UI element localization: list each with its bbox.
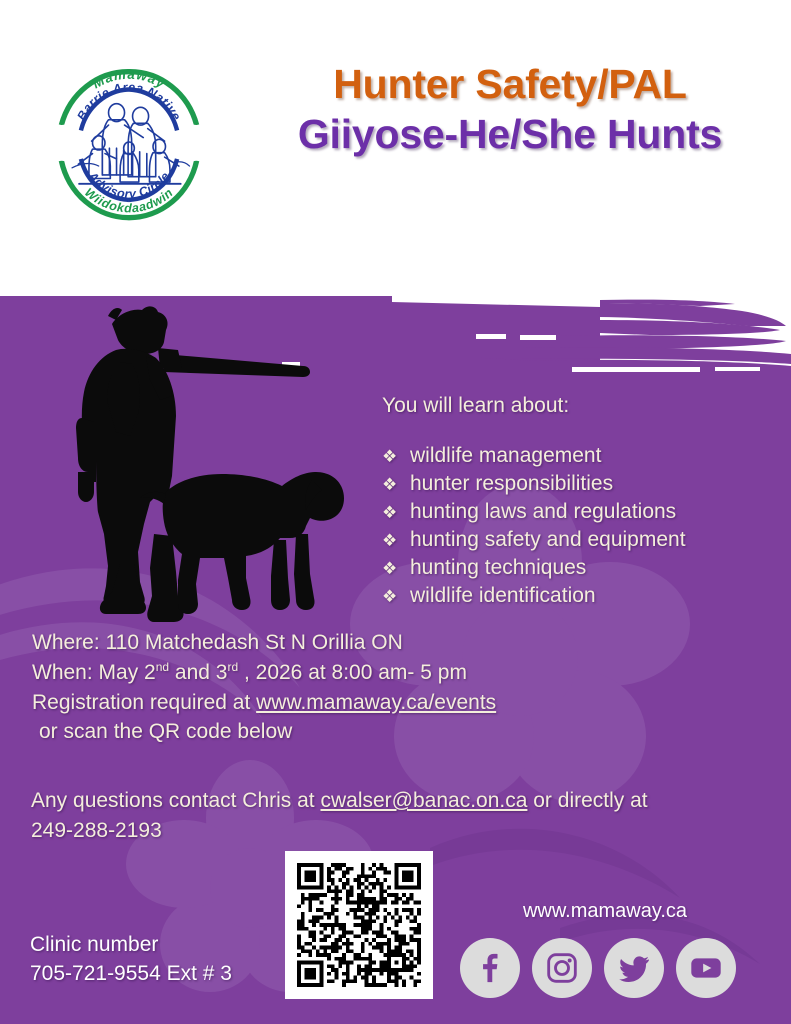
learn-list-item: ❖wildlife identification <box>382 584 782 608</box>
registration-link[interactable]: www.mamaway.ca/events <box>256 691 496 714</box>
logo-inner-top-text: Barrie Area Native <box>74 80 183 123</box>
bullet-diamond-icon: ❖ <box>382 447 410 467</box>
clinic-number-block: Clinic number 705-721-9554 Ext # 3 <box>30 930 290 989</box>
header-white-band: Mamaway Wiidokdaadwin Barrie Area Native… <box>0 0 791 288</box>
detail-when: When: May 2nd and 3rd , 2026 at 8:00 am-… <box>32 658 762 688</box>
bullet-diamond-icon: ❖ <box>382 531 410 551</box>
detail-registration: Registration required at www.mamaway.ca/… <box>32 688 762 718</box>
contact-prefix: Any questions contact Chris at <box>31 789 320 812</box>
instagram-button[interactable] <box>532 938 592 998</box>
contact-email-link[interactable]: cwalser@banac.on.ca <box>320 789 527 812</box>
learn-list-item-label: hunting laws and regulations <box>410 500 676 524</box>
learn-about-heading: You will learn about: <box>382 394 782 418</box>
learn-list-item-label: hunter responsibilities <box>410 472 613 496</box>
learn-list-item: ❖wildlife management <box>382 444 782 468</box>
learn-list-item: ❖hunting techniques <box>382 556 782 580</box>
learn-list-item: ❖hunter responsibilities <box>382 472 782 496</box>
detail-qr-note: or scan the QR code below <box>32 717 762 747</box>
contact-suffix: or directly at <box>527 789 647 812</box>
instagram-icon <box>545 951 579 985</box>
detail-when-suffix: , 2026 at 8:00 am- 5 pm <box>238 661 467 684</box>
learn-about-list: ❖wildlife management❖hunter responsibili… <box>382 444 782 608</box>
learn-list-item-label: wildlife identification <box>410 584 596 608</box>
youtube-icon <box>688 950 724 986</box>
learn-list-item: ❖hunting safety and equipment <box>382 528 782 552</box>
learn-list-item-label: hunting safety and equipment <box>410 528 686 552</box>
qr-code-matrix <box>297 863 421 987</box>
event-details-block: Where: 110 Matchedash St N Orillia ON Wh… <box>32 628 762 747</box>
twitter-button[interactable] <box>604 938 664 998</box>
clinic-number: 705-721-9554 Ext # 3 <box>30 959 290 988</box>
bullet-diamond-icon: ❖ <box>382 559 410 579</box>
detail-when-sup-nd: nd <box>156 660 169 674</box>
learn-about-block: You will learn about: ❖wildlife manageme… <box>382 394 782 612</box>
social-links <box>460 938 760 998</box>
bullet-diamond-icon: ❖ <box>382 503 410 523</box>
qr-code-registration[interactable] <box>285 851 433 999</box>
bullet-diamond-icon: ❖ <box>382 475 410 495</box>
title-block: Hunter Safety/PAL Giiyose-He/She Hunts <box>250 60 770 162</box>
learn-list-item: ❖hunting laws and regulations <box>382 500 782 524</box>
contact-block: Any questions contact Chris at cwalser@b… <box>31 786 771 847</box>
learn-list-item-label: hunting techniques <box>410 556 586 580</box>
contact-line: Any questions contact Chris at cwalser@b… <box>31 786 771 816</box>
detail-when-prefix: When: May 2 <box>32 661 156 684</box>
poster: Mamaway Wiidokdaadwin Barrie Area Native… <box>0 0 791 1024</box>
detail-when-sup-rd: rd <box>227 660 238 674</box>
learn-list-item-label: wildlife management <box>410 444 601 468</box>
hunter-with-rifle-and-dog-silhouette <box>60 296 360 626</box>
facebook-icon <box>473 951 507 985</box>
bullet-diamond-icon: ❖ <box>382 587 410 607</box>
mamaway-banac-logo: Mamaway Wiidokdaadwin Barrie Area Native… <box>40 48 218 236</box>
twitter-icon <box>617 951 651 985</box>
page-title-line1: Hunter Safety/PAL <box>250 60 770 108</box>
detail-where: Where: 110 Matchedash St N Orillia ON <box>32 628 762 658</box>
clinic-label: Clinic number <box>30 930 290 959</box>
facebook-button[interactable] <box>460 938 520 998</box>
website-url[interactable]: www.mamaway.ca <box>455 900 755 923</box>
svg-text:Barrie Area Native: Barrie Area Native <box>74 80 183 123</box>
detail-when-mid: and 3 <box>169 661 227 684</box>
detail-registration-prefix: Registration required at <box>32 691 256 714</box>
youtube-button[interactable] <box>676 938 736 998</box>
contact-phone: 249-288-2193 <box>31 816 771 846</box>
page-title-line2: Giiyose-He/She Hunts <box>250 108 770 161</box>
